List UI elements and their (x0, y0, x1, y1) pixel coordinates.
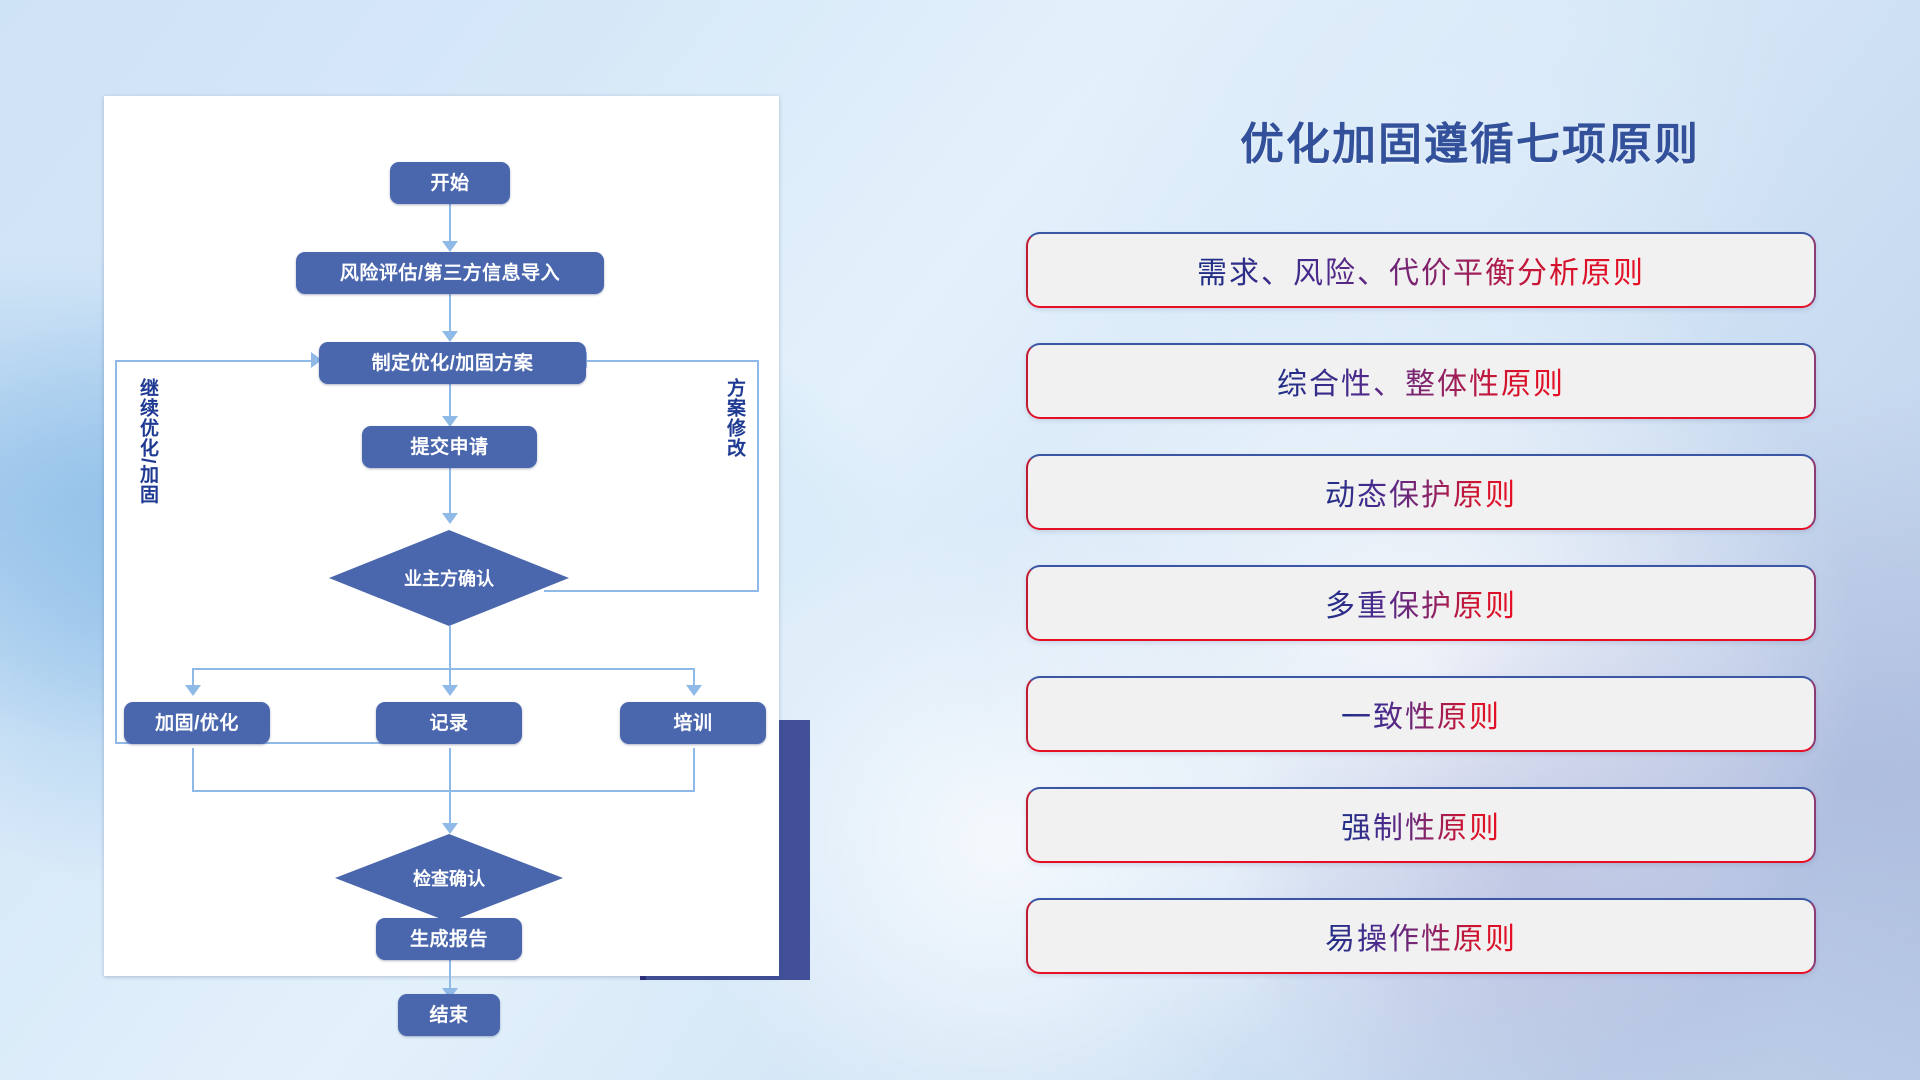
flow-node-submit-application[interactable]: 提交申请 (362, 426, 537, 468)
principle-item-7-label: 易操作性原则 (1325, 914, 1517, 958)
principle-item-7[interactable]: 易操作性原则 (1026, 898, 1816, 974)
principle-item-2[interactable]: 综合性、整体性原则 (1026, 343, 1816, 419)
connector-left-into-plan (115, 360, 319, 362)
flow-node-start[interactable]: 开始 (390, 162, 510, 204)
flow-edge-label-right: 方案修改 (724, 378, 744, 458)
flow-node-training-label: 培训 (673, 714, 712, 733)
flow-node-start-label: 开始 (430, 174, 469, 193)
flow-node-plan[interactable]: 制定优化/加固方案 (319, 342, 586, 384)
principles-panel: 优化加固遵循七项原则 需求、风险、代价平衡分析原则 综合性、整体性原则 动态保护… (1020, 0, 1920, 1080)
connector-left-up (115, 360, 117, 744)
principle-item-3-label: 动态保护原则 (1325, 470, 1517, 514)
principle-item-2-label: 综合性、整体性原则 (1277, 359, 1565, 403)
connector-branch-bus (192, 668, 694, 670)
flowchart-card: 开始 风险评估/第三方信息导入 制定优化/加固方案 提交申请 业主方确认 加固/… (104, 96, 779, 976)
flow-node-inspection-confirmation[interactable]: 检查确认 (335, 834, 563, 922)
flow-node-end[interactable]: 结束 (398, 994, 500, 1036)
flow-node-record[interactable]: 记录 (376, 702, 522, 744)
connector-rise-training (693, 748, 695, 792)
principle-item-6-label: 强制性原则 (1341, 803, 1501, 847)
arrowhead-drop-training (686, 685, 702, 696)
principle-item-6[interactable]: 强制性原则 (1026, 787, 1816, 863)
flow-node-record-label: 记录 (429, 714, 468, 733)
flow-node-generate-report[interactable]: 生成报告 (376, 918, 522, 960)
slide-canvas: 开始 风险评估/第三方信息导入 制定优化/加固方案 提交申请 业主方确认 加固/… (0, 0, 1920, 1080)
connector-merge-bus (192, 790, 695, 792)
flowchart-canvas: 开始 风险评估/第三方信息导入 制定优化/加固方案 提交申请 业主方确认 加固/… (104, 96, 779, 976)
flow-node-risk-assessment-label: 风险评估/第三方信息导入 (340, 264, 560, 283)
flow-node-reinforce-optimize-label: 加固/优化 (155, 714, 239, 733)
principle-item-5-label: 一致性原则 (1341, 692, 1501, 736)
connector-right-into-plan (586, 360, 759, 362)
flow-edge-label-left: 继续优化/加固 (137, 378, 157, 504)
connector-right-up (757, 360, 759, 592)
connector-ownercheck-right (544, 590, 759, 592)
flow-node-reinforce-optimize[interactable]: 加固/优化 (124, 702, 270, 744)
flow-node-owner-confirmation-label: 业主方确认 (404, 565, 494, 591)
connector-rise-reinforce (192, 748, 194, 792)
panel-title: 优化加固遵循七项原则 (1020, 108, 1920, 172)
principles-list: 需求、风险、代价平衡分析原则 综合性、整体性原则 动态保护原则 多重保护原则 一… (1026, 232, 1816, 1009)
arrowhead-start-to-risk (442, 241, 458, 252)
flow-node-risk-assessment[interactable]: 风险评估/第三方信息导入 (296, 252, 604, 294)
principle-item-3[interactable]: 动态保护原则 (1026, 454, 1816, 530)
flow-node-generate-report-label: 生成报告 (410, 930, 488, 949)
flow-node-owner-confirmation[interactable]: 业主方确认 (329, 530, 569, 626)
flow-node-inspection-confirmation-label: 检查确认 (413, 865, 485, 891)
arrowhead-drop-reinforce (185, 685, 201, 696)
arrowhead-to-inspect (442, 823, 458, 834)
principle-item-4-label: 多重保护原则 (1325, 581, 1517, 625)
principle-item-1[interactable]: 需求、风险、代价平衡分析原则 (1026, 232, 1816, 308)
principle-item-4[interactable]: 多重保护原则 (1026, 565, 1816, 641)
arrowhead-risk-to-plan (442, 331, 458, 342)
principle-item-1-label: 需求、风险、代价平衡分析原则 (1197, 248, 1645, 292)
connector-record-down (449, 748, 451, 830)
arrowhead-drop-record (442, 685, 458, 696)
flow-node-end-label: 结束 (429, 1006, 468, 1025)
flow-node-submit-application-label: 提交申请 (410, 438, 488, 457)
arrowhead-submit-to-ownercheck (442, 513, 458, 524)
flow-node-plan-label: 制定优化/加固方案 (372, 354, 534, 373)
connector-ownercheck-down (449, 626, 451, 670)
principle-item-5[interactable]: 一致性原则 (1026, 676, 1816, 752)
flow-node-training[interactable]: 培训 (620, 702, 766, 744)
